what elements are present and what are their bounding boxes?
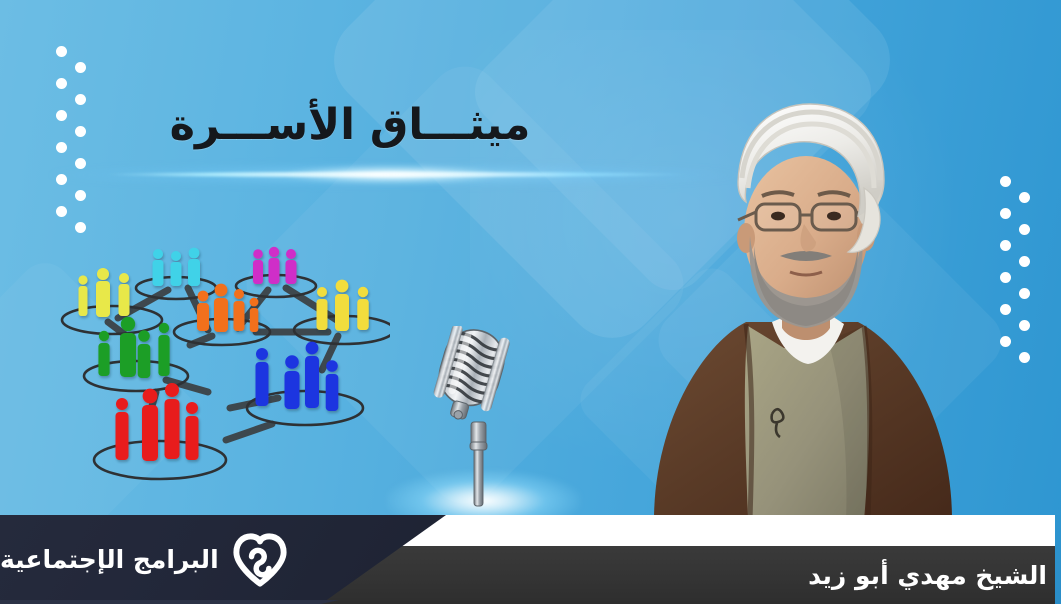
speaker-name-label: الشيخ مهدي أبو زيد <box>808 546 1047 604</box>
brand-label: البرامج الإجتماعية <box>0 545 219 574</box>
decorative-dot <box>75 62 86 73</box>
decorative-dot <box>75 158 86 169</box>
decorative-dot <box>1019 288 1030 299</box>
decorative-dot <box>56 206 67 217</box>
decorative-dot <box>75 190 86 201</box>
speaker-portrait <box>596 96 1008 520</box>
heart-knot-logo-icon <box>233 533 287 587</box>
brand-block: البرامج الإجتماعية <box>0 515 330 604</box>
decorative-dot <box>75 222 86 233</box>
decorative-dot <box>56 174 67 185</box>
right-edge-accent <box>1055 515 1061 604</box>
decorative-dot <box>56 78 67 89</box>
decorative-dot <box>56 142 67 153</box>
broadcast-title-card: ميثـــاق الأســـرة <box>0 0 1061 604</box>
decorative-dot <box>56 110 67 121</box>
decorative-dot <box>1019 352 1030 363</box>
decorative-dot <box>56 46 67 57</box>
decorative-dot <box>1019 192 1030 203</box>
decorative-dot <box>1019 256 1030 267</box>
decorative-dot <box>75 126 86 137</box>
decorative-dot <box>1019 320 1030 331</box>
program-title: ميثـــاق الأســـرة <box>150 100 550 152</box>
social-network-people-graphic <box>40 240 390 515</box>
retro-microphone-icon <box>424 326 534 516</box>
decorative-dot <box>1019 224 1030 235</box>
decorative-dot <box>75 94 86 105</box>
